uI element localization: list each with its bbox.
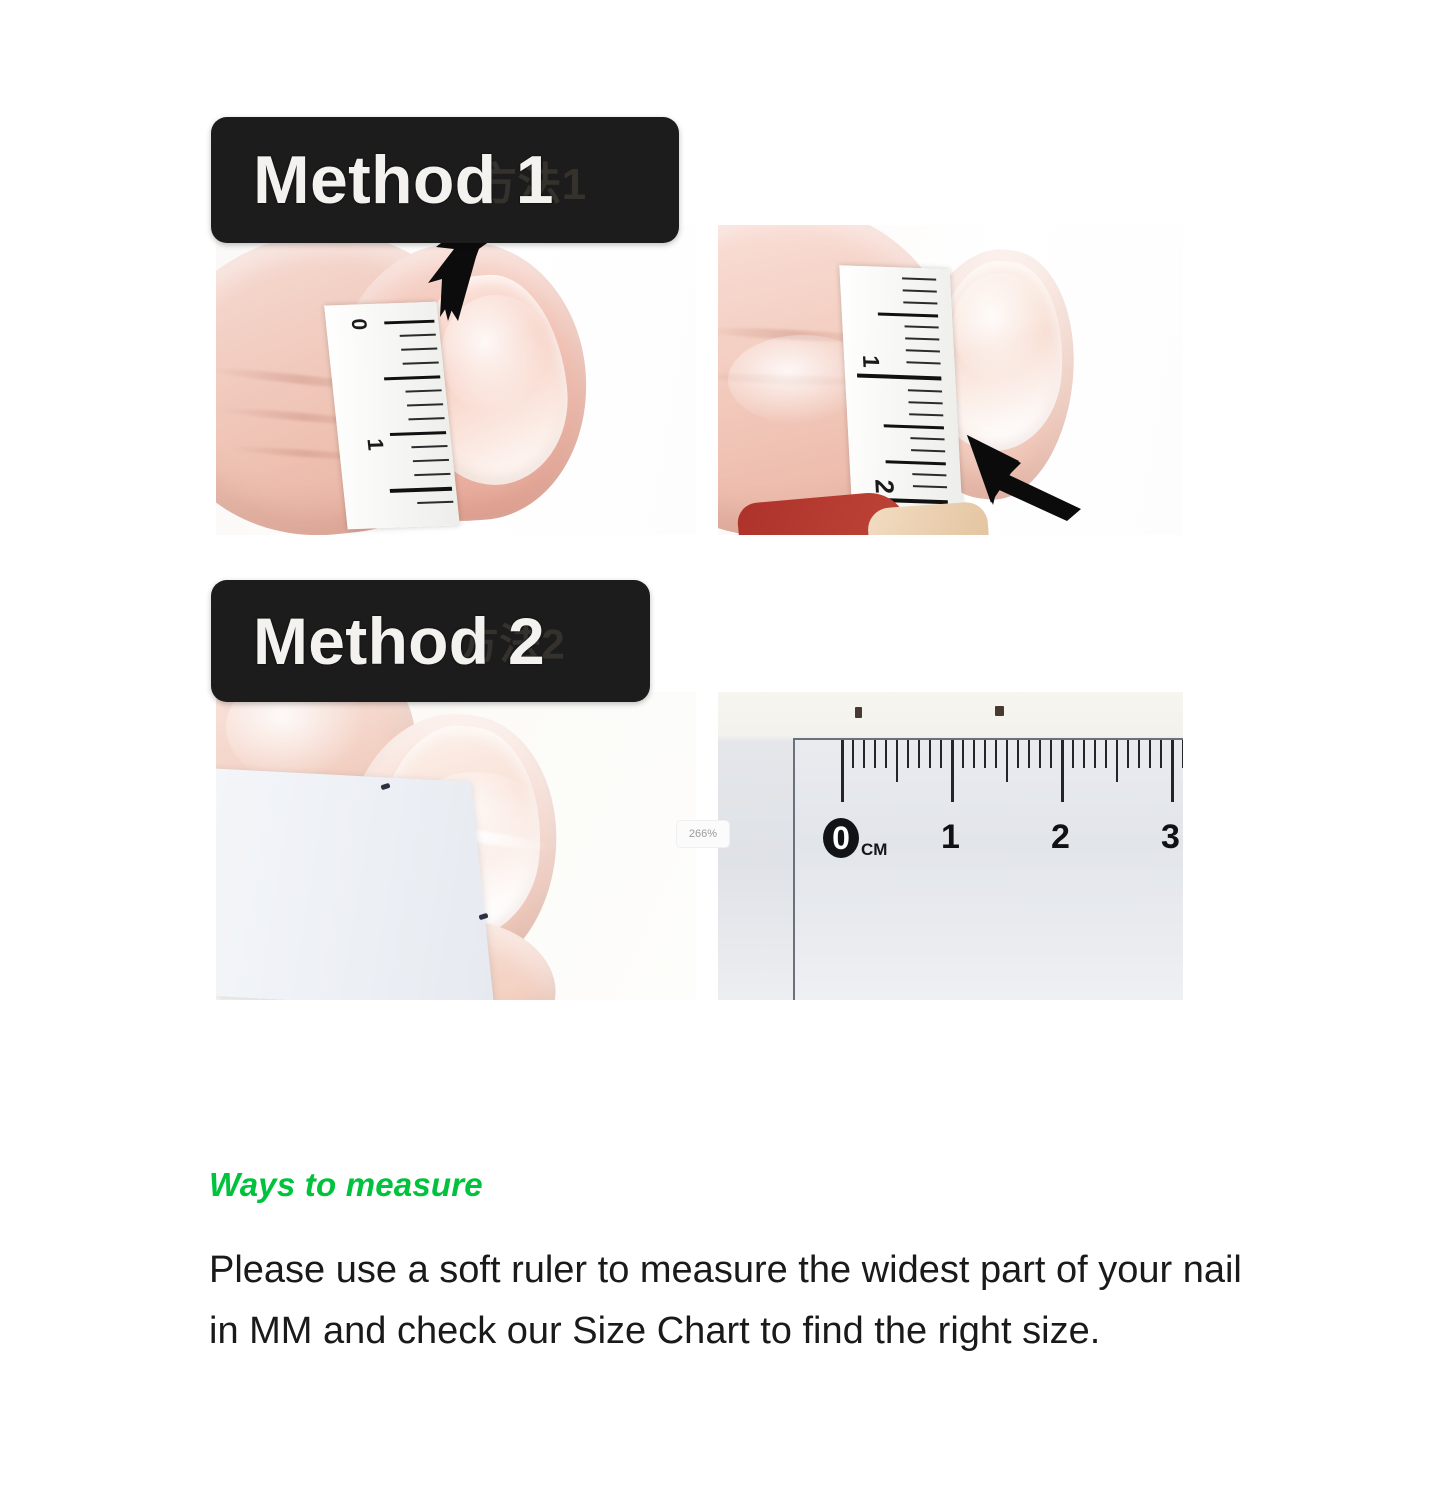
ruler-tick [984,740,986,768]
zoom-level-badge[interactable]: 266% [676,820,730,848]
tape-tick [405,389,441,392]
tape-tick [886,460,946,465]
ruler-tick [1072,740,1074,768]
method-1-photo-left: 0 1 [216,225,696,535]
ruler-label-2: 2 [1051,818,1070,857]
ruler-tick [1039,740,1041,768]
tape-tick [413,459,449,462]
ruler-tick [1050,740,1052,768]
tape-number-1: 1 [361,438,388,451]
ruler-tick [995,740,997,768]
pen-mark [855,707,862,718]
ruler-tick [1017,740,1019,768]
ruler-tick [885,740,887,768]
tape-tick [403,361,439,364]
measuring-tape: 1 2 [839,265,962,519]
tape-number-2: 2 [868,479,900,495]
pointer-arrow-icon [963,417,1093,527]
tape-tick [909,413,943,416]
tape-tick [913,485,947,488]
ruler-tick [874,740,876,768]
tape-tick [910,437,944,440]
ruler-tick-half [1116,740,1118,782]
tape-tick [857,374,941,381]
tape-tick [905,337,939,340]
ruler-tick [1138,740,1140,768]
ruler-tick [962,740,964,768]
tape-number-0: 0 [345,318,370,330]
tape-tick [417,501,453,504]
method-2-photo-right: 0 CM 1 2 3 [718,692,1183,1000]
paper-strip [216,767,495,1000]
tape-tick [903,289,937,292]
ruler-tick [973,740,975,768]
tape-tick [390,487,453,493]
ruler-tick [1105,740,1107,768]
ruler-tick-major [1171,740,1174,802]
method-2-badge: 方法2 Method 2 [211,580,650,702]
tape-tick [408,417,444,420]
tape-tick [878,312,938,317]
method-1-label: Method 1 [253,141,554,219]
ruler-tick [1028,740,1030,768]
ruler-tick-major [951,740,954,802]
ruler-tick-half [896,740,898,782]
tape-tick [912,473,946,476]
ruler-label-1: 1 [941,818,960,857]
ruler-label-3: 3 [1161,818,1180,857]
section-heading: Ways to measure [209,1166,483,1204]
ruler-tick-half [1006,740,1008,782]
ruler-tick [1149,740,1151,768]
tape-tick [902,277,936,280]
ruler-tick [1160,740,1162,768]
pen-mark [995,706,1004,716]
method-1-badge: 方法1 Method 1 [211,117,679,243]
tape-tick [884,424,944,429]
ruler-unit-label: CM [861,840,887,860]
tape-tick [411,445,447,448]
ruler-tick-major [841,740,844,802]
tape-tick [906,349,940,352]
ruler-label-0: 0 [823,818,859,858]
tape-tick [390,431,446,436]
body-copy: Please use a soft ruler to measure the w… [209,1240,1244,1362]
ruler-tick [1182,740,1183,768]
ruler-tick-major [1061,740,1064,802]
ruler-tick [863,740,865,768]
tape-number-1: 1 [857,355,885,369]
ruler-tick [1094,740,1096,768]
ruler-body: 0 CM 1 2 3 [793,738,1183,1000]
method-2-photo-left [216,692,696,1000]
ruler-tick [929,740,931,768]
ruler-tick [940,740,942,768]
ruler-tick [852,740,854,768]
tape-tick [384,375,440,380]
ruler-tick [907,740,909,768]
method-1-photo-right: 1 2 [718,225,1183,535]
tape-tick [908,389,942,392]
tape-tick [911,449,945,452]
tape-tick [906,361,940,364]
tape-tick [407,403,443,406]
ruler-tick [918,740,920,768]
tape-tick [414,473,450,476]
ruler-tick [1127,740,1129,768]
tape-tick [401,348,437,351]
tape-tick [903,301,937,304]
tape-tick [905,325,939,328]
tape-tick [908,401,942,404]
ruler-tick [1083,740,1085,768]
method-2-label: Method 2 [253,603,545,679]
